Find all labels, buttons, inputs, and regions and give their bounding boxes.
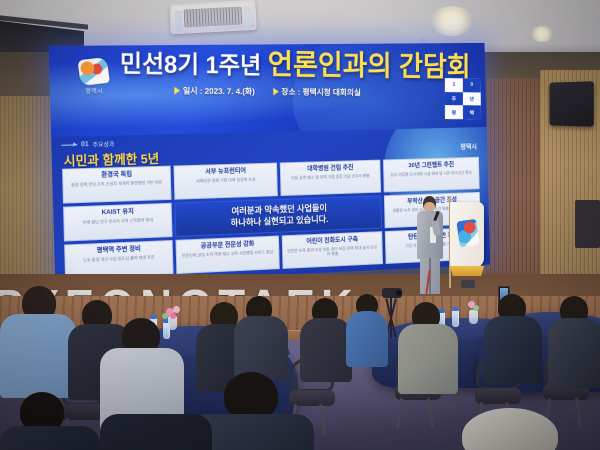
audience-person: [548, 296, 600, 382]
cell-body: 환경 정책 전담 조직 신설로 체계적 환경행정 기반 마련: [71, 179, 162, 187]
cell-body: 미래 첨단 연구 인프라 지역 산학협력 확대: [83, 217, 153, 225]
speaker-legs: [420, 258, 440, 294]
banner-place-label: 장소 : 평택시청 대회의실: [281, 86, 360, 98]
audience-person-foreground: [436, 408, 576, 450]
downlight-icon: [430, 6, 474, 36]
person-suit: [548, 318, 600, 388]
cell-body: 장기 미집행 도시계획 시설 해제 및 시민 여가공간 확보: [390, 170, 471, 178]
achievement-cell: 30년 그린벨트 추진 장기 미집행 도시계획 시설 해제 및 시민 여가공간 …: [382, 157, 479, 193]
arrow-icon: [61, 145, 77, 146]
banner-place: 장소 : 평택시청 대회의실: [273, 86, 361, 98]
flag-emblem-icon: [456, 219, 479, 248]
cell-body: 의료 공백 해소 및 지역 거점 종합 의료 인프라 확충: [291, 173, 370, 181]
anniversary-badge: 1 0 주 년 평 택: [445, 78, 481, 119]
badge-cell: 주: [445, 92, 463, 106]
banner-meta: 일시 : 2023. 7. 4.(화) 장소 : 평택시청 대회의실: [174, 85, 434, 99]
flag-cloth: [450, 202, 484, 268]
flag-base: [461, 280, 475, 288]
achievement-cell: 환경국 독립 환경 정책 전담 조직 신설로 체계적 환경행정 기반 마련: [62, 166, 171, 204]
achievement-cell: 대학병원 건립 추진 의료 공백 해소 및 지역 거점 종합 의료 인프라 확충: [280, 160, 381, 196]
camera-lens-icon: [396, 290, 402, 296]
audience-person-foreground: [0, 392, 96, 450]
slide-logo: 평택시: [460, 142, 477, 152]
banner-title: 민선8기 1주년 언론인과의 간담회: [120, 47, 432, 82]
person-suit: [234, 316, 288, 380]
air-conditioner-vent-icon: [169, 0, 256, 34]
banner-date: 일시 : 2023. 7. 4.(화): [174, 85, 254, 97]
cell-body: 안전한 보육 환경 조성 아동 권리 보장 정책 확대 놀이 인프라 확충: [286, 244, 379, 259]
cell-title: 대학병원 건립 추진: [307, 164, 353, 172]
audience-person: [300, 298, 350, 378]
achievement-cell: 어린이 친화도시 구축 안전한 보육 환경 조성 아동 권리 보장 정책 확대 …: [282, 231, 383, 269]
badge-cell: 0: [463, 78, 481, 92]
achievement-cell: 공공부문 전문성 강화 전문인력 양성 조직 역량 제고 교육 시민행정 서비스…: [175, 236, 280, 275]
badge-cell: 택: [463, 106, 481, 120]
banner-date-label: 일시 : 2023. 7. 4.(화): [183, 85, 255, 97]
speaker-person: [413, 196, 447, 296]
slide-center-message: 여러분과 약속했던 사업들이 하나하나 실현되고 있습니다.: [174, 196, 382, 237]
slide-kicker-number: 01: [81, 141, 89, 148]
person-suit: [484, 316, 542, 384]
person-head: [224, 372, 278, 420]
person-suit: [100, 414, 212, 450]
banner-title-line: 민선8기 1주년 언론인과의 간담회: [120, 47, 432, 82]
vent-slot-right: [244, 7, 252, 27]
audience-person: [0, 286, 72, 396]
banner-title-part2: 1주년: [206, 52, 262, 80]
conference-photo: 평택시 민선8기 1주년 언론인과의 간담회 일시 : 2023. 7. 4.(…: [0, 0, 600, 450]
cell-title: 환경국 독립: [101, 171, 132, 179]
banner-title-part1: 민선8기: [120, 50, 199, 79]
vent-slot-left: [175, 11, 183, 31]
audience-person: [234, 296, 286, 376]
center-message-line2: 하나하나 실현되고 있습니다.: [230, 214, 328, 227]
wall-access-panel: [575, 200, 600, 248]
badge-cell: 평: [445, 105, 463, 119]
city-emblem-label: 평택시: [72, 86, 117, 96]
center-message: 여러분과 약속했던 사업들이 하나하나 실현되고 있습니다.: [230, 203, 328, 228]
badge-cell: 년: [463, 92, 481, 106]
cell-title: 공공부문 전문성 강화: [201, 240, 255, 250]
cell-title: 서부 뉴프런티어: [205, 167, 246, 175]
cell-title: KAIST 유치: [102, 208, 134, 217]
event-banner: 평택시 민선8기 1주년 언론인과의 간담회 일시 : 2023. 7. 4.(…: [49, 43, 487, 137]
wall-mounted-speaker: [550, 81, 594, 126]
audience-person: [346, 294, 386, 364]
cell-title: 어린이 친화도시 구축: [306, 236, 358, 245]
flag-fringe: [450, 266, 484, 276]
person-shirt: [346, 311, 388, 367]
slide-kicker-label: 주요성과: [92, 140, 114, 149]
vent-grille: [184, 6, 243, 27]
cell-title: 평택역 주변 정비: [97, 245, 141, 254]
achievement-cell: KAIST 유치 미래 첨단 연구 인프라 지역 산학협력 확대: [63, 203, 172, 242]
badge-cell: 1: [445, 78, 463, 92]
audience-person-foreground: [100, 414, 210, 450]
cell-body: 전문인력 양성 조직 역량 제고 교육 시민행정 서비스 향상: [182, 249, 273, 259]
city-emblem: 평택시: [71, 58, 117, 100]
banner-title-part3: 언론인과의 간담회: [268, 49, 471, 83]
city-flag: [447, 196, 489, 288]
downlight-icon: [530, 26, 554, 42]
person-shirt: [398, 324, 458, 394]
flower: [173, 306, 180, 313]
cell-body: 서해안권 경제 거점 미래 성장축 조성: [196, 176, 255, 183]
person-suit: [0, 426, 100, 450]
person-head-gray-hair: [462, 408, 558, 450]
foliage: [473, 305, 479, 311]
achievement-cell: 서부 뉴프런티어 서해안권 경제 거점 미래 성장축 조성: [173, 163, 278, 200]
cell-title: 30년 그린벨트 추진: [408, 161, 454, 169]
triangle-bullet-icon: [174, 87, 180, 95]
city-emblem-icon: [77, 57, 109, 86]
cell-body: 노후 환경 개선 사업 원도심 활력 재생 추진: [83, 254, 155, 263]
triangle-bullet-icon: [273, 88, 279, 96]
person-shirt: [0, 314, 76, 398]
vase: [469, 310, 478, 324]
slide-kicker: 01 주요성과: [61, 140, 114, 150]
audience-person: [484, 294, 540, 378]
audience-person: [398, 302, 456, 388]
